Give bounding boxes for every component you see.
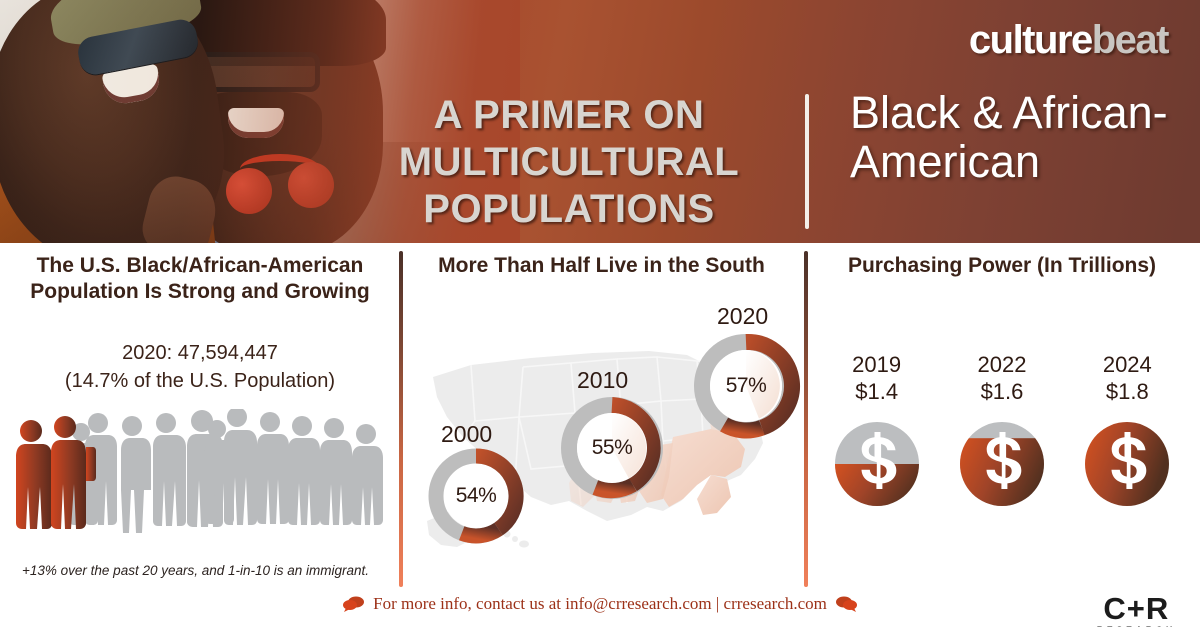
header-subtitle: Black & African-American [850,88,1190,186]
donut-2020[interactable]: 57% [691,331,801,441]
donut-2020-value: 57% [691,331,801,441]
coin-value-2019: $1.4 [818,378,936,406]
speech-bubble-icon-2 [835,596,857,612]
contact-text: For more info, contact us at info@crrese… [373,594,827,614]
speech-bubble-icon [343,596,365,612]
donut-2010[interactable]: 55% [559,395,665,501]
panel-south-distribution: More Than Half Live in the South [399,243,804,627]
contact-line[interactable]: For more info, contact us at info@crrese… [0,594,1200,614]
crowd-highlight-1 [16,420,52,529]
dollar-coin-icon-2022 [956,418,1048,510]
dollar-coin-icon-2019 [831,418,923,510]
crowd-silhouettes-icon [8,409,392,549]
logo-text-culture: culture [969,18,1092,62]
population-footnote: +13% over the past 20 years, and 1-in-10… [22,563,392,578]
coin-item-2024[interactable]: 2024 $1.8 [1068,351,1186,510]
purchasing-power-coins: 2019 $1.4 [814,351,1190,510]
population-title: The U.S. Black/African-American Populati… [20,253,380,305]
population-share: (14.7% of the U.S. Population) [20,367,380,395]
donut-year-2010: 2010 [577,367,628,394]
south-title: More Than Half Live in the South [419,253,784,279]
coin-item-2019[interactable]: 2019 $1.4 [818,351,936,510]
coin-year-2019: 2019 [818,351,936,378]
donut-year-2020: 2020 [717,303,768,330]
culturebeat-logo: culturebeat [969,18,1168,63]
panel-population: The U.S. Black/African-American Populati… [0,243,399,627]
header-banner: A PRIMER ON MULTICULTURAL POPULATIONS cu… [0,0,1200,243]
dollar-coin-icon-2024 [1081,418,1173,510]
population-stats: 2020: 47,594,447 (14.7% of the U.S. Popu… [20,339,380,395]
coin-value-2024: $1.8 [1068,378,1186,406]
population-count: 2020: 47,594,447 [20,339,380,367]
donut-2000[interactable]: 54% [427,447,525,545]
purchasing-power-title: Purchasing Power (In Trillions) [822,253,1182,279]
panel-purchasing-power: Purchasing Power (In Trillions) 2019 $1.… [804,243,1200,627]
footer: For more info, contact us at info@crrese… [0,592,1200,627]
crowd-svg [8,409,392,549]
cr-research-logo: C+R RESEARCH [1097,594,1176,627]
donut-2010-value: 55% [559,395,665,501]
donut-year-2000: 2000 [441,421,492,448]
main-title: A PRIMER ON MULTICULTURAL POPULATIONS [360,92,778,233]
cr-logo-main: C+R [1097,594,1176,624]
coin-value-2022: $1.6 [943,378,1061,406]
body-content: The U.S. Black/African-American Populati… [0,243,1200,627]
coin-item-2022[interactable]: 2022 $1.6 [943,351,1061,510]
logo-text-beat: beat [1092,18,1168,62]
coin-year-2024: 2024 [1068,351,1186,378]
coin-year-2022: 2022 [943,351,1061,378]
donut-2000-value: 54% [427,447,525,545]
title-divider [805,94,809,229]
